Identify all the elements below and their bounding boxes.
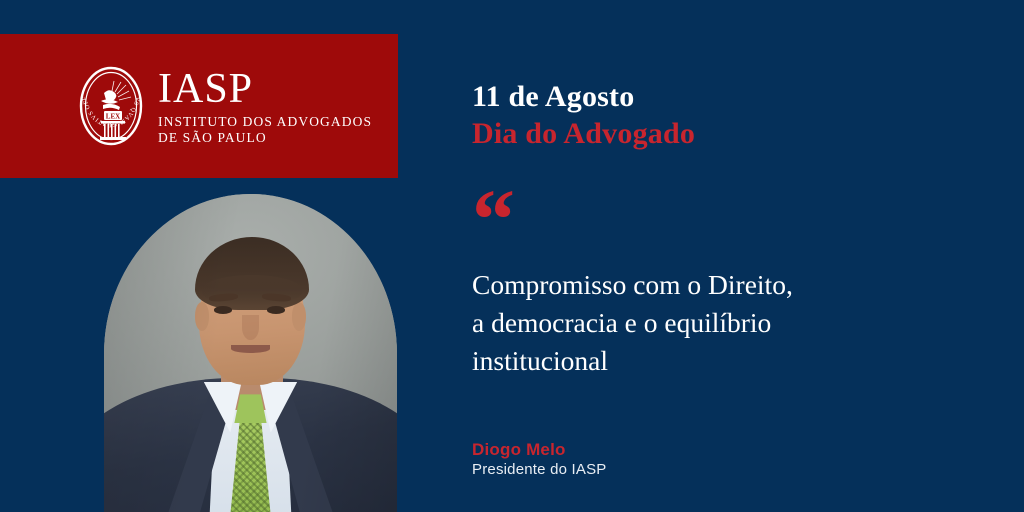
portrait-photo bbox=[104, 194, 397, 512]
logo-lockup: CLARIVS QVAM GRATIVS OFFICIVM LEX bbox=[74, 63, 372, 149]
headline-date: 11 de Agosto bbox=[472, 80, 634, 114]
iasp-logo-block: CLARIVS QVAM GRATIVS OFFICIVM LEX bbox=[0, 34, 398, 178]
quote-line-2: a democracia e o equilíbrio bbox=[472, 304, 972, 342]
author-role: Presidente do IASP bbox=[472, 461, 607, 478]
quote-line-3: institucional bbox=[472, 342, 972, 380]
portrait-ear-right bbox=[292, 302, 307, 331]
portrait-eye-right bbox=[267, 306, 285, 314]
social-card: CLARIVS QVAM GRATIVS OFFICIVM LEX bbox=[0, 0, 1024, 512]
headline-occasion: Dia do Advogado bbox=[472, 117, 695, 151]
logo-acronym: IASP bbox=[158, 68, 372, 110]
message-column: 11 de Agosto Dia do Advogado “ Compromis… bbox=[472, 0, 1012, 512]
quote-line-1: Compromisso com o Direito, bbox=[472, 266, 972, 304]
logo-wordmark: IASP INSTITUTO DOS ADVOGADOS DE SÃO PAUL… bbox=[158, 68, 372, 145]
logo-name-line-2: DE SÃO PAULO bbox=[158, 131, 372, 145]
quote-text: Compromisso com o Direito, a democracia … bbox=[472, 266, 972, 380]
iasp-seal-icon: CLARIVS QVAM GRATIVS OFFICIVM LEX bbox=[74, 63, 148, 149]
author-name: Diogo Melo bbox=[472, 440, 566, 460]
svg-text:LEX: LEX bbox=[106, 112, 120, 120]
portrait-eye-left bbox=[214, 306, 232, 314]
logo-name-line-1: INSTITUTO DOS ADVOGADOS bbox=[158, 115, 372, 129]
quote-open-icon: “ bbox=[472, 176, 513, 262]
